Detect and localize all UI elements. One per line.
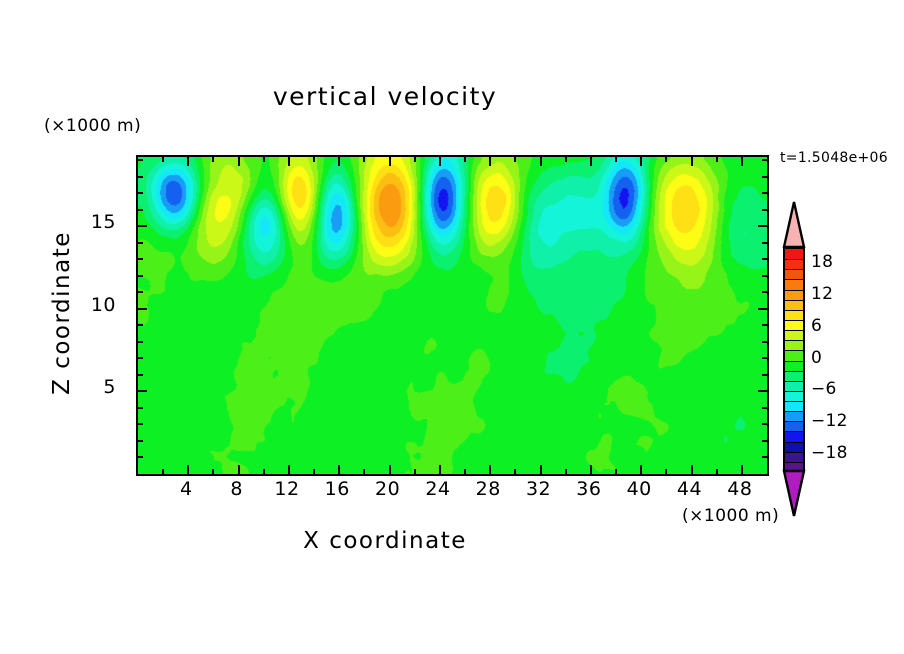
x-tick [288, 465, 290, 476]
x-tick [212, 469, 214, 476]
x-tick [716, 469, 718, 476]
x-tick-top [363, 155, 365, 162]
x-tick [263, 469, 265, 476]
x-tick [238, 465, 240, 476]
y-tick-right [762, 440, 769, 442]
colorbar-band-separator [785, 371, 803, 372]
y-tick-right [758, 225, 769, 227]
colorbar-band-separator [785, 269, 803, 270]
colorbar-band-separator [785, 330, 803, 331]
y-tick-right [762, 374, 769, 376]
colorbar-band [785, 300, 803, 311]
colorbar-band-separator [785, 310, 803, 311]
colorbar-band [785, 249, 803, 260]
x-tick-top [489, 155, 491, 166]
x-tick-top [514, 155, 516, 162]
y-tick-label: 10 [56, 294, 116, 316]
x-tick-top [615, 155, 617, 162]
colorbar-band [785, 269, 803, 280]
y-tick-right [762, 357, 769, 359]
y-tick [136, 407, 143, 409]
y-tick-right [762, 209, 769, 211]
colorbar-band-separator [785, 279, 803, 280]
colorbar-band [785, 259, 803, 270]
colorbar-band-separator [785, 361, 803, 362]
colorbar-band [785, 361, 803, 372]
y-tick [136, 374, 143, 376]
y-tick [136, 423, 143, 425]
y-tick [136, 192, 143, 194]
colorbar-band [785, 452, 803, 463]
x-tick [514, 469, 516, 476]
y-tick-right [762, 192, 769, 194]
x-tick-top [414, 155, 416, 162]
y-tick-right [762, 275, 769, 277]
x-tick-top [389, 155, 391, 166]
colorbar-band [785, 350, 803, 361]
colorbar-band [785, 411, 803, 422]
y-tick-right [758, 308, 769, 310]
colorbar-tick-label: 18 [811, 252, 833, 272]
colorbar-tick-label: −18 [811, 443, 848, 463]
x-tick [162, 469, 164, 476]
colorbar-band [785, 279, 803, 290]
colorbar-over-arrow [781, 200, 807, 248]
x-tick-top [162, 155, 164, 162]
x-tick [489, 465, 491, 476]
x-tick-top [338, 155, 340, 166]
y-tick [136, 159, 143, 161]
x-tick-top [640, 155, 642, 166]
y-tick-right [762, 407, 769, 409]
colorbar-band-separator [785, 350, 803, 351]
x-tick [338, 465, 340, 476]
colorbar-band [785, 381, 803, 392]
colorbar-band-separator [785, 290, 803, 291]
x-tick-top [665, 155, 667, 162]
x-tick [414, 469, 416, 476]
x-tick [640, 465, 642, 476]
y-tick-right [762, 159, 769, 161]
y-axis-units-label: (×1000 m) [44, 116, 141, 136]
x-tick-top [590, 155, 592, 166]
colorbar-band-separator [785, 431, 803, 432]
colorbar-band-separator [785, 462, 803, 463]
y-tick-right [762, 456, 769, 458]
colorbar-band-separator [785, 411, 803, 412]
x-axis-units-label: (×1000 m) [682, 506, 779, 526]
x-tick [187, 465, 189, 476]
x-tick-top [741, 155, 743, 166]
colorbar-band-separator [785, 452, 803, 453]
colorbar-tick-label: 12 [811, 284, 833, 304]
colorbar-tick-label: −6 [811, 379, 837, 399]
colorbar-band-separator [785, 259, 803, 260]
x-tick [590, 465, 592, 476]
colorbar-band-separator [785, 421, 803, 422]
figure-canvas: vertical velocity (×1000 m) (×1000 m) Z … [0, 0, 904, 654]
colorbar-band [785, 320, 803, 331]
y-tick-right [762, 423, 769, 425]
colorbar-band [785, 371, 803, 382]
x-tick [540, 465, 542, 476]
y-tick [136, 242, 143, 244]
x-tick-top [716, 155, 718, 162]
y-tick-right [762, 242, 769, 244]
x-tick [691, 465, 693, 476]
y-tick [136, 176, 143, 178]
x-tick [389, 465, 391, 476]
y-tick-right [758, 390, 769, 392]
colorbar-band [785, 290, 803, 301]
colorbar-band-separator [785, 401, 803, 402]
y-tick [136, 275, 143, 277]
colorbar-band [785, 442, 803, 453]
y-tick-label: 5 [56, 376, 116, 398]
y-tick-right [762, 341, 769, 343]
x-tick [363, 469, 365, 476]
x-tick [565, 469, 567, 476]
colorbar: 181260−6−12−18 [781, 200, 807, 518]
colorbar-band-separator [785, 320, 803, 321]
y-tick [136, 390, 147, 392]
x-tick-top [313, 155, 315, 162]
x-tick-top [187, 155, 189, 166]
y-tick-right [762, 291, 769, 293]
y-tick [136, 440, 143, 442]
x-tick-top [565, 155, 567, 162]
x-tick-top [263, 155, 265, 162]
timestamp-annotation: t=1.5048e+06 [780, 150, 888, 166]
colorbar-tick-label: 0 [811, 348, 822, 368]
y-tick [136, 341, 143, 343]
x-tick [741, 465, 743, 476]
y-tick [136, 225, 147, 227]
x-tick [439, 465, 441, 476]
y-tick [136, 258, 143, 260]
x-tick-top [691, 155, 693, 166]
x-tick-top [464, 155, 466, 162]
colorbar-band [785, 330, 803, 341]
colorbar-band-separator [785, 442, 803, 443]
y-tick [136, 291, 143, 293]
colorbar-band [785, 310, 803, 321]
x-tick-top [212, 155, 214, 162]
colorbar-under-arrow [781, 468, 807, 518]
colorbar-tick-label: 6 [811, 316, 822, 336]
colorbar-band [785, 340, 803, 351]
y-tick-label: 15 [56, 211, 116, 233]
contour-plot-area [136, 155, 769, 476]
colorbar-band [785, 421, 803, 432]
x-tick-top [238, 155, 240, 166]
y-tick-right [762, 176, 769, 178]
colorbar-band [785, 401, 803, 412]
y-tick [136, 456, 143, 458]
x-axis-title: X coordinate [0, 528, 770, 554]
x-tick-top [288, 155, 290, 166]
colorbar-band-separator [785, 381, 803, 382]
colorbar-band-separator [785, 340, 803, 341]
x-tick [665, 469, 667, 476]
x-tick-label: 48 [710, 478, 770, 500]
colorbar-band-separator [785, 391, 803, 392]
colorbar-band [785, 431, 803, 442]
colorbar-bands [783, 247, 805, 470]
page-title: vertical velocity [0, 82, 770, 111]
x-tick [313, 469, 315, 476]
colorbar-tick-label: −12 [811, 411, 848, 431]
x-tick-top [439, 155, 441, 166]
y-tick [136, 324, 143, 326]
y-tick [136, 209, 143, 211]
x-tick-top [540, 155, 542, 166]
y-tick-right [762, 324, 769, 326]
vertical-velocity-field [138, 157, 767, 474]
y-tick [136, 308, 147, 310]
y-tick [136, 357, 143, 359]
x-tick [464, 469, 466, 476]
y-tick-right [762, 258, 769, 260]
colorbar-band [785, 391, 803, 402]
colorbar-band-separator [785, 300, 803, 301]
x-tick [615, 469, 617, 476]
